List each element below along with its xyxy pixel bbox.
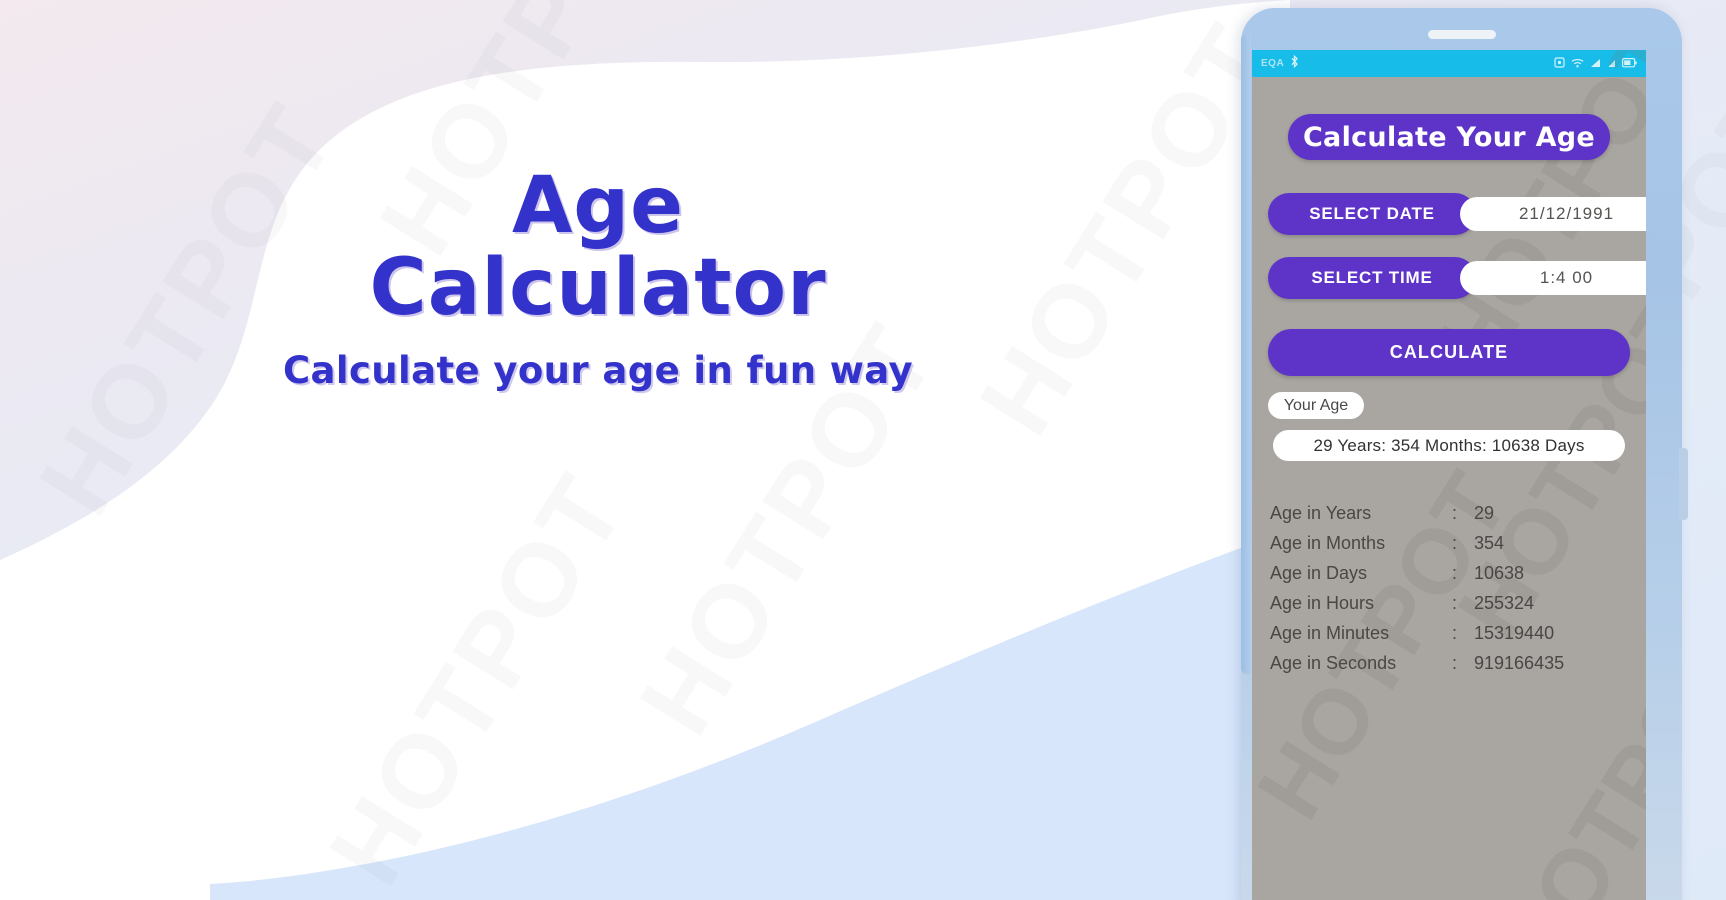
battery-icon [1622, 55, 1637, 73]
detail-separator: : [1452, 623, 1474, 644]
hero-title-line-1: Age [248, 168, 948, 244]
detail-separator: : [1452, 533, 1474, 554]
detail-label: Age in Seconds [1270, 653, 1452, 674]
detail-separator: : [1452, 563, 1474, 584]
alarm-icon [1554, 55, 1565, 73]
your-age-label: Your Age [1284, 397, 1348, 415]
detail-row: Age in Years : 29 [1270, 503, 1630, 533]
carrier-label: EQA [1261, 58, 1284, 69]
detail-separator: : [1452, 653, 1474, 674]
status-bar-right [1554, 55, 1637, 73]
date-value: 21/12/1991 [1519, 204, 1614, 224]
hero-title-line-2: Calculator [248, 250, 948, 326]
hero-subtitle: Calculate your age in fun way [248, 349, 948, 392]
speaker-slot [1428, 30, 1496, 39]
signal-secondary-icon [1607, 55, 1616, 73]
detail-value: 10638 [1474, 563, 1524, 584]
calculate-label: CALCULATE [1390, 342, 1509, 363]
app-body: HOTPOT HOTPOT HOTPOT HOTPOT Calculate Yo… [1252, 114, 1646, 900]
signal-icon [1590, 55, 1601, 73]
calculate-button[interactable]: CALCULATE [1268, 329, 1630, 376]
age-detail-list: Age in Years : 29 Age in Months : 354 Ag… [1268, 503, 1630, 683]
detail-value: 354 [1474, 533, 1504, 554]
wifi-icon [1571, 55, 1584, 73]
detail-row: Age in Hours : 255324 [1270, 593, 1630, 623]
select-time-row: SELECT TIME 1:4 00 [1268, 257, 1630, 299]
page-background: HOTPOT HOTPOT HOTPOT HOTPOT HOTPOT HOTPO… [0, 0, 1726, 900]
phone-screen: EQA [1252, 50, 1646, 900]
select-date-label: SELECT DATE [1309, 204, 1435, 224]
date-value-field[interactable]: 21/12/1991 [1460, 197, 1646, 231]
detail-row: Age in Seconds : 919166435 [1270, 653, 1630, 683]
detail-value: 15319440 [1474, 623, 1554, 644]
detail-value: 255324 [1474, 593, 1534, 614]
detail-row: Age in Days : 10638 [1270, 563, 1630, 593]
detail-label: Age in Years [1270, 503, 1452, 524]
time-value-field[interactable]: 1:4 00 [1460, 261, 1646, 295]
age-summary-text: 29 Years: 354 Months: 10638 Days [1313, 436, 1584, 456]
detail-label: Age in Months [1270, 533, 1452, 554]
hero-section: Age Calculator Calculate your age in fun… [248, 168, 948, 392]
detail-label: Age in Hours [1270, 593, 1452, 614]
status-bar-left: EQA [1261, 55, 1299, 73]
phone-left-edge [1241, 34, 1251, 674]
detail-label: Age in Minutes [1270, 623, 1452, 644]
app-title-label: Calculate Your Age [1303, 122, 1595, 153]
detail-value: 919166435 [1474, 653, 1564, 674]
phone-mockup: EQA [1241, 8, 1682, 900]
detail-label: Age in Days [1270, 563, 1452, 584]
detail-row: Age in Minutes : 15319440 [1270, 623, 1630, 653]
select-time-label: SELECT TIME [1311, 268, 1432, 288]
select-date-button[interactable]: SELECT DATE [1268, 193, 1476, 235]
select-date-row: SELECT DATE 21/12/1991 [1268, 193, 1630, 235]
bluetooth-icon [1290, 55, 1299, 73]
detail-value: 29 [1474, 503, 1494, 524]
status-bar: EQA [1252, 50, 1646, 77]
power-button[interactable] [1679, 448, 1688, 520]
your-age-label-pill: Your Age [1268, 392, 1364, 419]
detail-separator: : [1452, 593, 1474, 614]
app-title-banner: Calculate Your Age [1288, 114, 1610, 160]
background-blue-wave [0, 470, 1290, 900]
age-summary-banner: 29 Years: 354 Months: 10638 Days [1273, 430, 1625, 461]
select-time-button[interactable]: SELECT TIME [1268, 257, 1476, 299]
time-value: 1:4 00 [1540, 268, 1593, 288]
detail-row: Age in Months : 354 [1270, 533, 1630, 563]
detail-separator: : [1452, 503, 1474, 524]
